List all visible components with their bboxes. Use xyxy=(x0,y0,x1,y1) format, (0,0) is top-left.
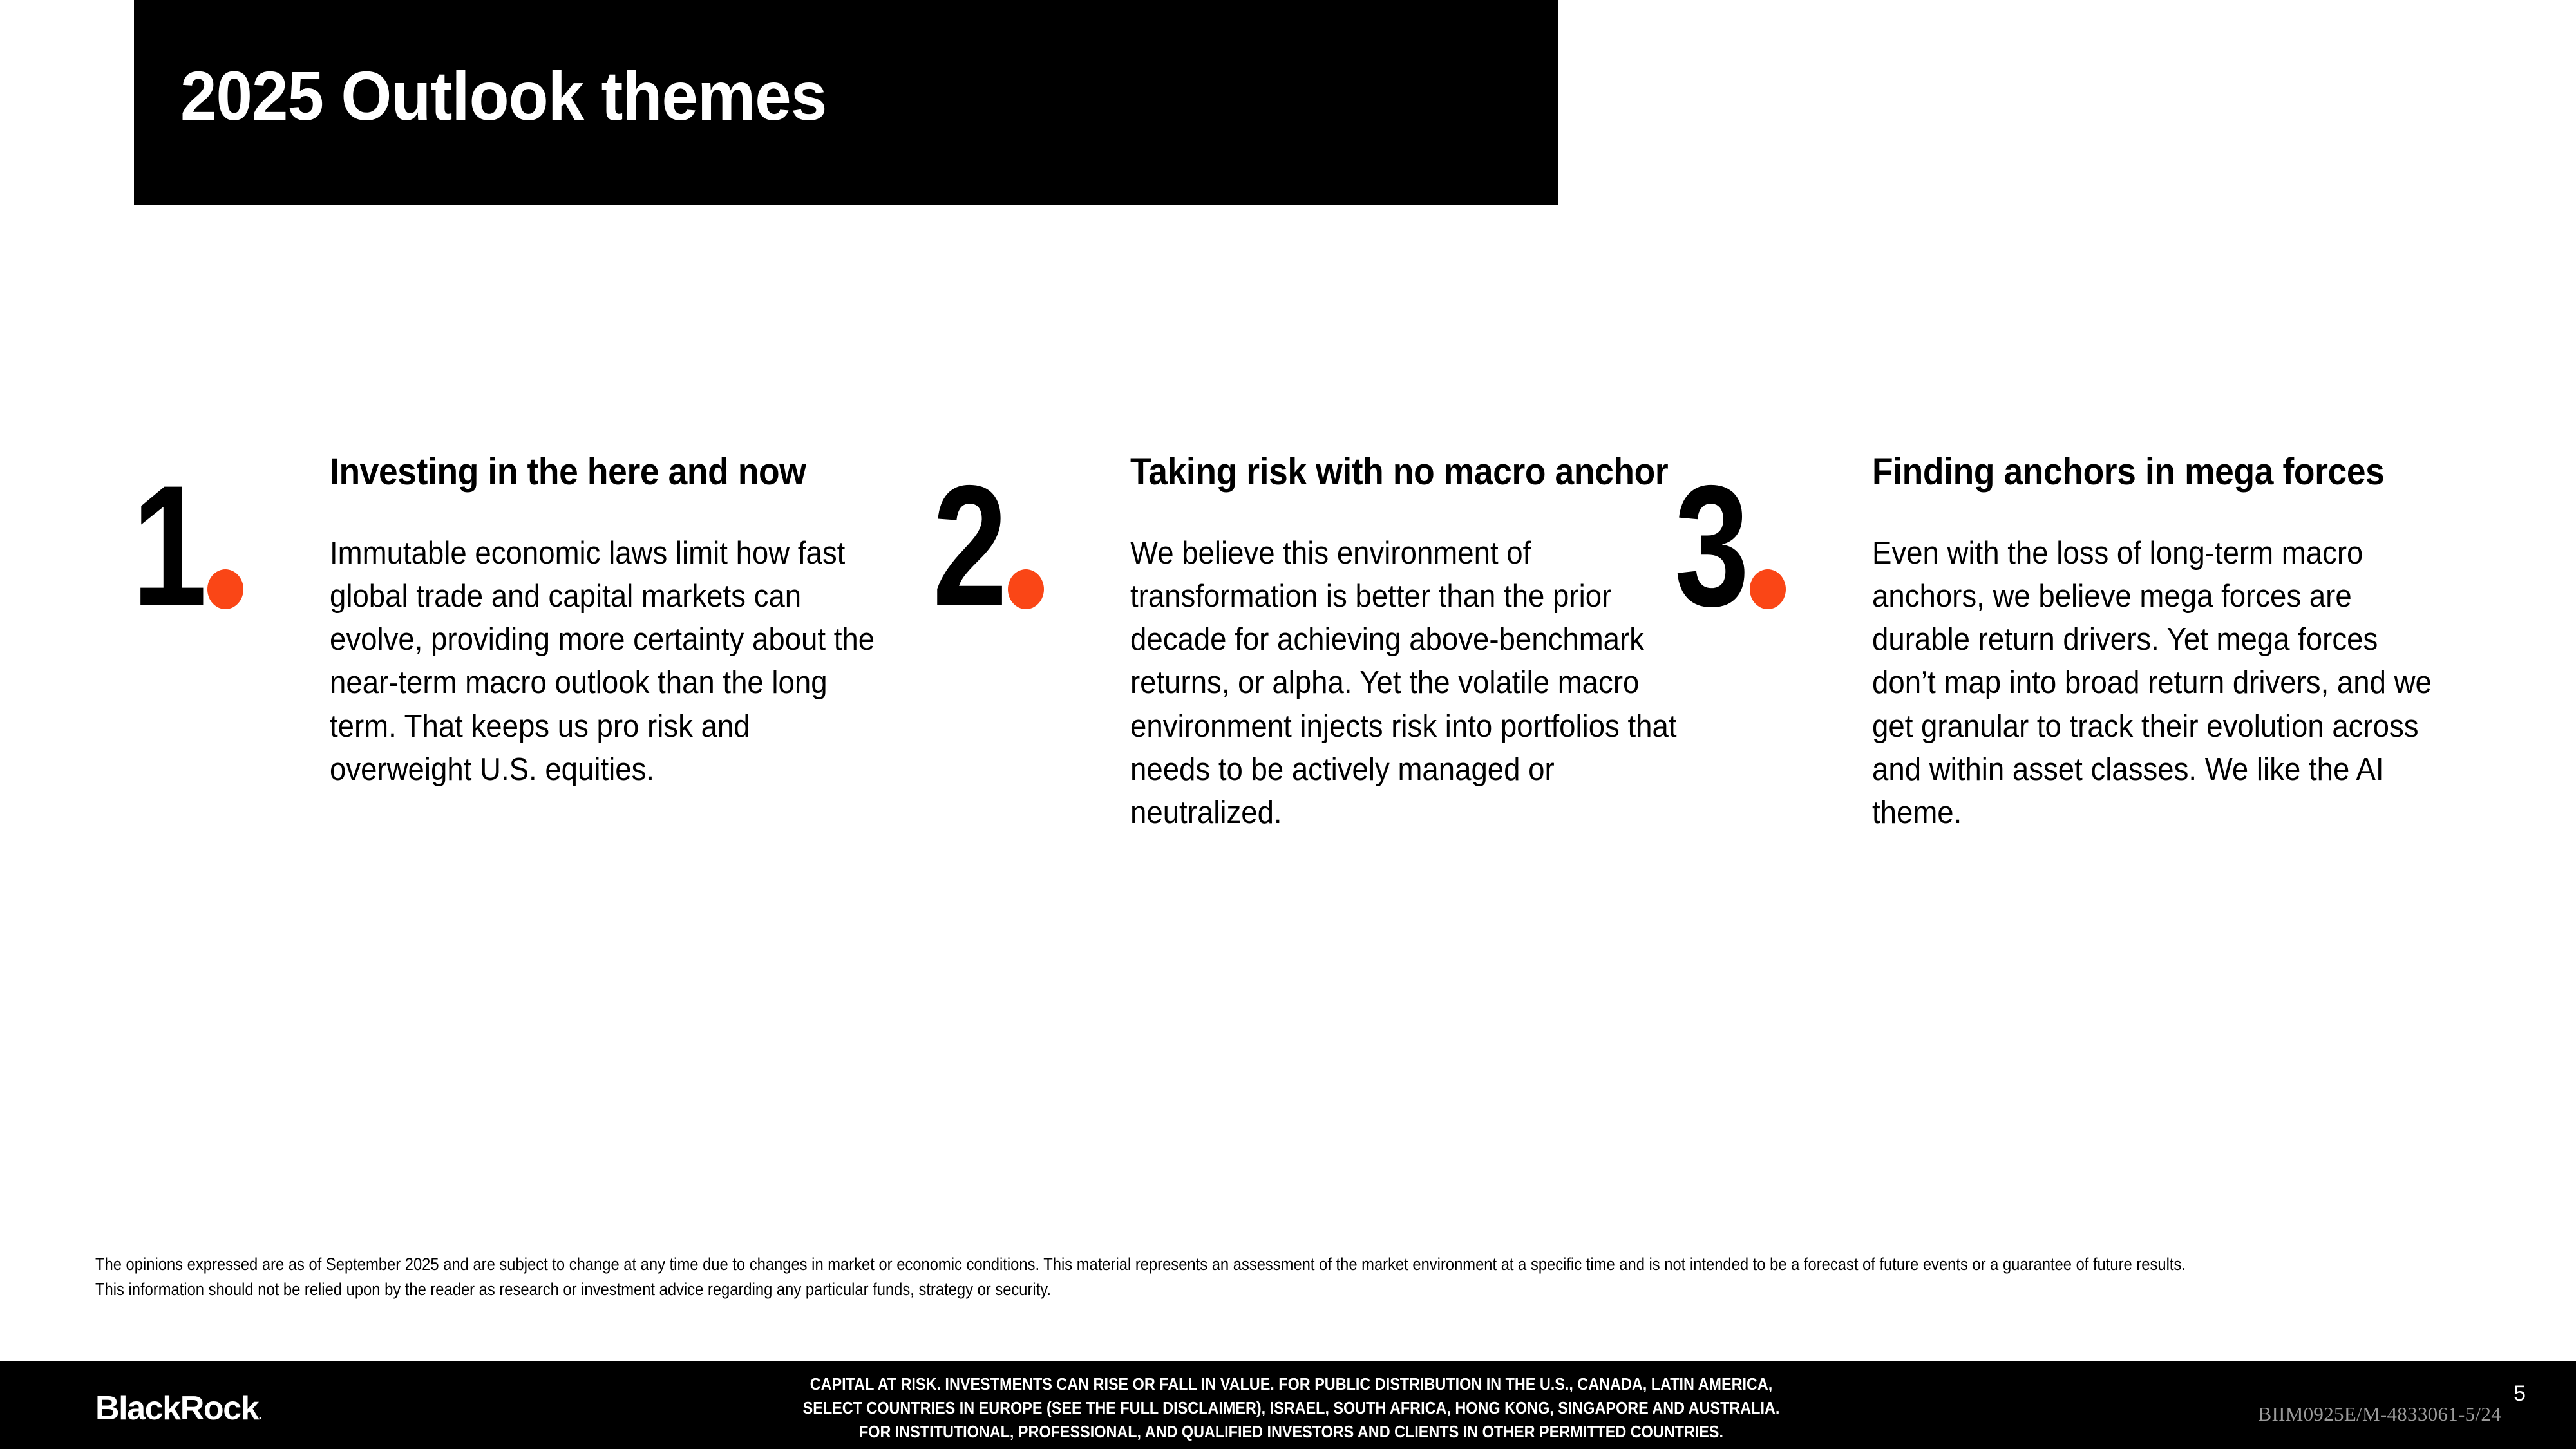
theme-numeral-label: 3 xyxy=(1674,478,1749,613)
brand-name: BlackRock xyxy=(95,1390,258,1427)
theme-numeral-label: 1 xyxy=(132,478,207,613)
themes-container: 1 Investing in the here and now Immutabl… xyxy=(0,451,2576,1030)
theme-body-2: Taking risk with no macro anchor We beli… xyxy=(1130,451,1684,835)
document-id: BIIM0925E/M-4833061-5/24 xyxy=(2259,1403,2501,1426)
footer-legal-line-3: FOR INSTITUTIONAL, PROFESSIONAL, AND QUA… xyxy=(790,1420,1793,1444)
theme-column-2: 2 Taking risk with no macro anchor We be… xyxy=(933,451,1680,1030)
brand-mark: . xyxy=(258,1408,262,1423)
theme-heading-2: Taking risk with no macro anchor xyxy=(1130,451,1680,493)
footer-legal-line-2: SELECT COUNTRIES IN EUROPE (SEE THE FULL… xyxy=(790,1396,1793,1420)
blackrock-logo: BlackRock. xyxy=(95,1389,262,1428)
theme-number-2: 2 xyxy=(933,465,1044,613)
theme-heading-1: Investing in the here and now xyxy=(330,451,880,493)
footer-legal-text: CAPITAL AT RISK. INVESTMENTS CAN RISE OR… xyxy=(790,1372,1793,1444)
footer-bar: BlackRock. CAPITAL AT RISK. INVESTMENTS … xyxy=(0,1361,2576,1449)
page-title: 2025 Outlook themes xyxy=(180,59,826,132)
theme-body-3: Finding anchors in mega forces Even with… xyxy=(1872,451,2452,835)
page-number: 5 xyxy=(2514,1381,2526,1406)
orange-dot-icon xyxy=(1750,569,1786,609)
theme-number-3: 3 xyxy=(1674,465,1786,613)
disclaimer-text: The opinions expressed are as of Septemb… xyxy=(95,1252,2204,1303)
theme-heading-3: Finding anchors in mega forces xyxy=(1872,451,2448,493)
theme-text-3: Even with the loss of long-term macro an… xyxy=(1872,532,2449,835)
theme-number-1: 1 xyxy=(132,465,243,613)
theme-text-1: Immutable economic laws limit how fast g… xyxy=(330,532,881,791)
theme-text-2: We believe this environment of transform… xyxy=(1130,532,1681,835)
theme-numeral-label: 2 xyxy=(933,478,1007,613)
theme-column-3: 3 Finding anchors in mega forces Even wi… xyxy=(1674,451,2421,1030)
footer-legal-line-1: CAPITAL AT RISK. INVESTMENTS CAN RISE OR… xyxy=(790,1372,1793,1396)
theme-column-1: 1 Investing in the here and now Immutabl… xyxy=(132,451,879,1030)
orange-dot-icon xyxy=(1008,569,1044,609)
theme-body-1: Investing in the here and now Immutable … xyxy=(330,451,884,791)
orange-dot-icon xyxy=(207,569,243,609)
